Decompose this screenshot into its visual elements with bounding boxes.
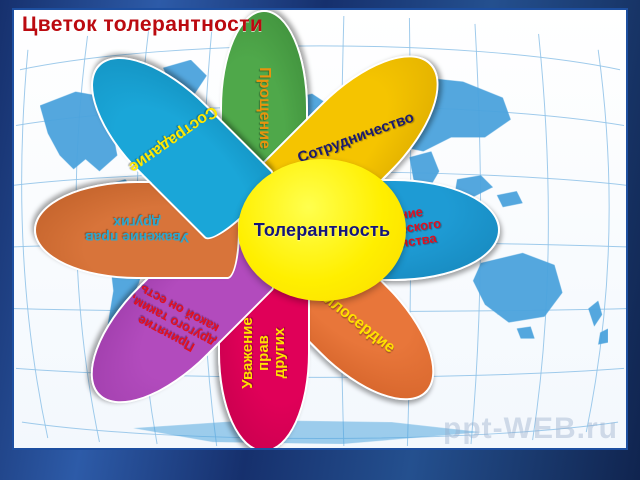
page-title: Цветок толерантности [22, 13, 263, 37]
watermark-text: ppt-WEB.ru [443, 412, 618, 446]
slide-inner-frame: ПрощениеСотрудничествоУважение человечес… [12, 8, 628, 450]
flower-core[interactable]: Толерантность [238, 159, 406, 301]
slide-canvas: ПрощениеСотрудничествоУважение человечес… [0, 0, 640, 480]
flower-core-label: Толерантность [254, 220, 390, 241]
tolerance-flower-diagram: ПрощениеСотрудничествоУважение человечес… [14, 10, 628, 450]
